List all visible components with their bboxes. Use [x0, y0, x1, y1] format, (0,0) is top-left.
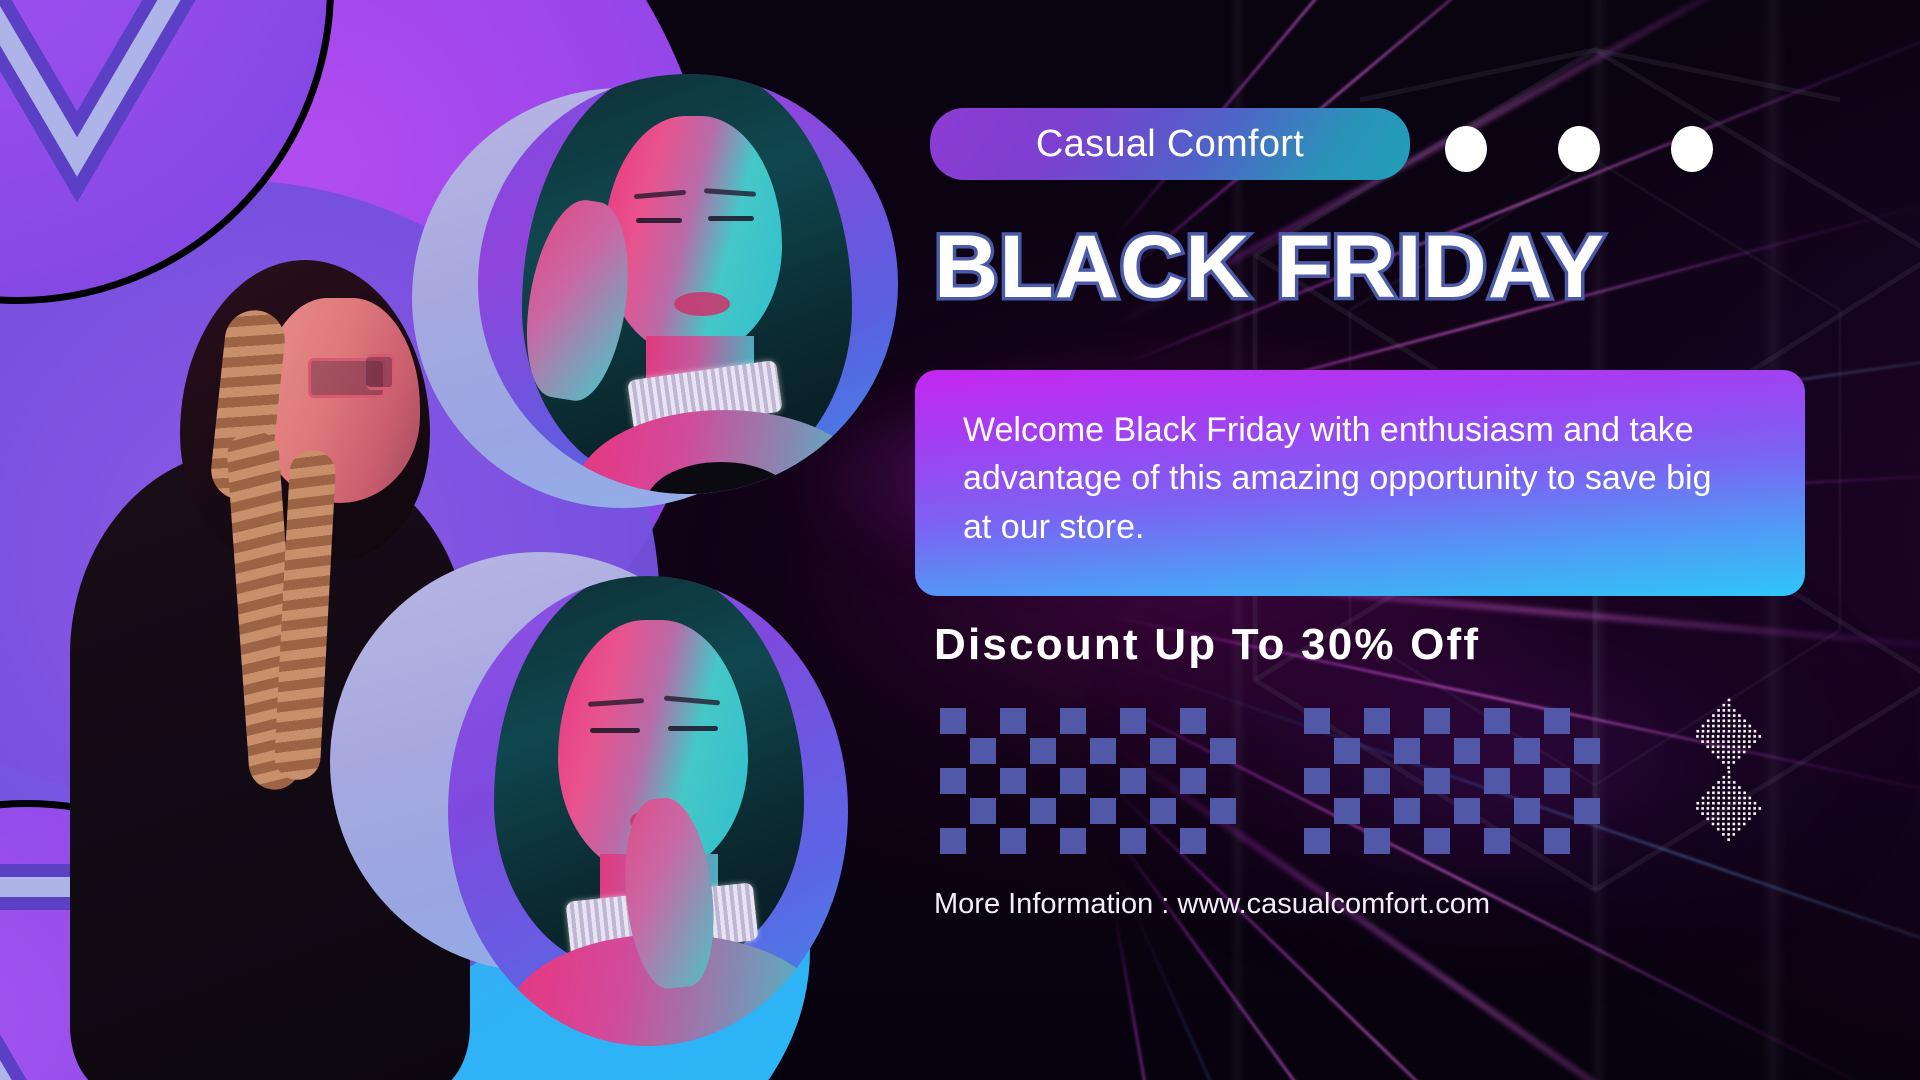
checker-cell: [1090, 798, 1116, 824]
checker-cell: [970, 828, 996, 854]
checker-pattern-icon: [1304, 708, 1604, 858]
checker-cell: [1304, 828, 1330, 854]
checker-cell: [1210, 768, 1236, 794]
checker-cell: [1060, 798, 1086, 824]
checker-cell: [1364, 738, 1390, 764]
checker-cell: [1544, 738, 1570, 764]
checker-cell: [1120, 768, 1146, 794]
blurb-card: Welcome Black Friday with enthusiasm and…: [915, 370, 1805, 596]
checker-cell: [1334, 828, 1360, 854]
dot-icon: [1671, 126, 1713, 172]
checker-cell: [1454, 708, 1480, 734]
checker-cell: [1424, 798, 1450, 824]
brand-name: Casual Comfort: [1036, 123, 1304, 166]
checker-cell: [1030, 708, 1056, 734]
checker-cell: [1574, 828, 1600, 854]
checker-cell: [1514, 738, 1540, 764]
checker-cell: [1364, 798, 1390, 824]
checker-cell: [1060, 708, 1086, 734]
checker-cell: [1454, 798, 1480, 824]
neon-portrait-bottom: [448, 576, 848, 1046]
discount-headline: Discount Up To 30% Off: [934, 620, 1480, 670]
checker-cell: [1150, 768, 1176, 794]
checker-cell: [940, 708, 966, 734]
checker-cell: [1574, 798, 1600, 824]
checker-cell: [1574, 738, 1600, 764]
checker-cell: [1544, 768, 1570, 794]
checker-cell: [1060, 738, 1086, 764]
checker-cell: [1150, 828, 1176, 854]
checker-cell: [1304, 798, 1330, 824]
checker-cell: [1544, 708, 1570, 734]
checker-cell: [1394, 798, 1420, 824]
checker-cell: [1210, 798, 1236, 824]
checker-cell: [1544, 828, 1570, 854]
checker-cell: [1000, 798, 1026, 824]
checker-cell: [1060, 768, 1086, 794]
checker-cell: [1120, 828, 1146, 854]
chevron-triangle-icon: [0, 0, 287, 247]
checker-cell: [1394, 828, 1420, 854]
checker-cell: [1574, 768, 1600, 794]
brand-pill[interactable]: Casual Comfort: [930, 108, 1410, 180]
checker-cell: [1180, 798, 1206, 824]
checker-cell: [1120, 738, 1146, 764]
checker-cell: [1210, 828, 1236, 854]
checker-cell: [1090, 738, 1116, 764]
checker-cell: [1304, 768, 1330, 794]
checker-cell: [1030, 828, 1056, 854]
checker-cell: [1180, 768, 1206, 794]
checker-pattern-group: [940, 708, 1604, 858]
checker-cell: [1424, 708, 1450, 734]
checker-cell: [1454, 768, 1480, 794]
checker-cell: [940, 798, 966, 824]
footer-info: More Information : www.casualcomfort.com: [934, 888, 1490, 921]
checker-cell: [1394, 708, 1420, 734]
checker-cell: [1090, 708, 1116, 734]
dot-icon: [1445, 126, 1487, 172]
checker-cell: [1544, 798, 1570, 824]
checker-cell: [1484, 768, 1510, 794]
checker-cell: [1484, 738, 1510, 764]
checker-cell: [1000, 708, 1026, 734]
dotted-diamond-icon: [1674, 694, 1784, 844]
checker-cell: [970, 738, 996, 764]
checker-cell: [940, 828, 966, 854]
checker-cell: [1514, 798, 1540, 824]
checker-cell: [1180, 828, 1206, 854]
checker-cell: [1304, 708, 1330, 734]
checker-cell: [1394, 738, 1420, 764]
neon-portrait-top: [478, 74, 898, 494]
checker-cell: [1120, 708, 1146, 734]
content-column: Casual Comfort BLACK FRIDAY Welcome Blac…: [930, 0, 1920, 1080]
checker-cell: [1424, 738, 1450, 764]
checker-cell: [1364, 708, 1390, 734]
checker-cell: [1180, 738, 1206, 764]
checker-cell: [1180, 708, 1206, 734]
checker-cell: [1454, 738, 1480, 764]
checker-cell: [970, 768, 996, 794]
checker-cell: [1484, 708, 1510, 734]
checker-cell: [1000, 738, 1026, 764]
checker-cell: [1000, 828, 1026, 854]
checker-cell: [1120, 798, 1146, 824]
checker-cell: [1514, 708, 1540, 734]
blurb-text: Welcome Black Friday with enthusiasm and…: [963, 406, 1743, 551]
checker-cell: [1030, 768, 1056, 794]
checker-cell: [1090, 768, 1116, 794]
checker-cell: [1210, 708, 1236, 734]
checker-cell: [1334, 708, 1360, 734]
checker-cell: [1394, 768, 1420, 794]
checker-cell: [1090, 828, 1116, 854]
checker-cell: [1210, 738, 1236, 764]
checker-cell: [1150, 738, 1176, 764]
decor-dots-group: [1445, 126, 1713, 172]
checker-cell: [1030, 798, 1056, 824]
checker-cell: [1060, 828, 1086, 854]
checker-cell: [1030, 738, 1056, 764]
checker-cell: [1454, 828, 1480, 854]
checker-cell: [1000, 768, 1026, 794]
checker-pattern-icon: [940, 708, 1240, 858]
checker-cell: [1334, 768, 1360, 794]
checker-cell: [1334, 798, 1360, 824]
checker-cell: [1514, 828, 1540, 854]
checker-cell: [940, 768, 966, 794]
black-friday-banner: Casual Comfort BLACK FRIDAY Welcome Blac…: [0, 0, 1920, 1080]
checker-cell: [1514, 768, 1540, 794]
checker-cell: [1334, 738, 1360, 764]
checker-cell: [1484, 798, 1510, 824]
checker-cell: [970, 708, 996, 734]
checker-cell: [1424, 828, 1450, 854]
checker-cell: [1424, 768, 1450, 794]
checker-cell: [1150, 798, 1176, 824]
page-title: BLACK FRIDAY: [934, 222, 1605, 311]
checker-cell: [1364, 828, 1390, 854]
checker-cell: [1574, 708, 1600, 734]
checker-cell: [1304, 738, 1330, 764]
checker-cell: [940, 738, 966, 764]
checker-cell: [970, 798, 996, 824]
checker-cell: [1484, 828, 1510, 854]
dot-icon: [1558, 126, 1600, 172]
checker-cell: [1150, 708, 1176, 734]
checker-cell: [1364, 768, 1390, 794]
